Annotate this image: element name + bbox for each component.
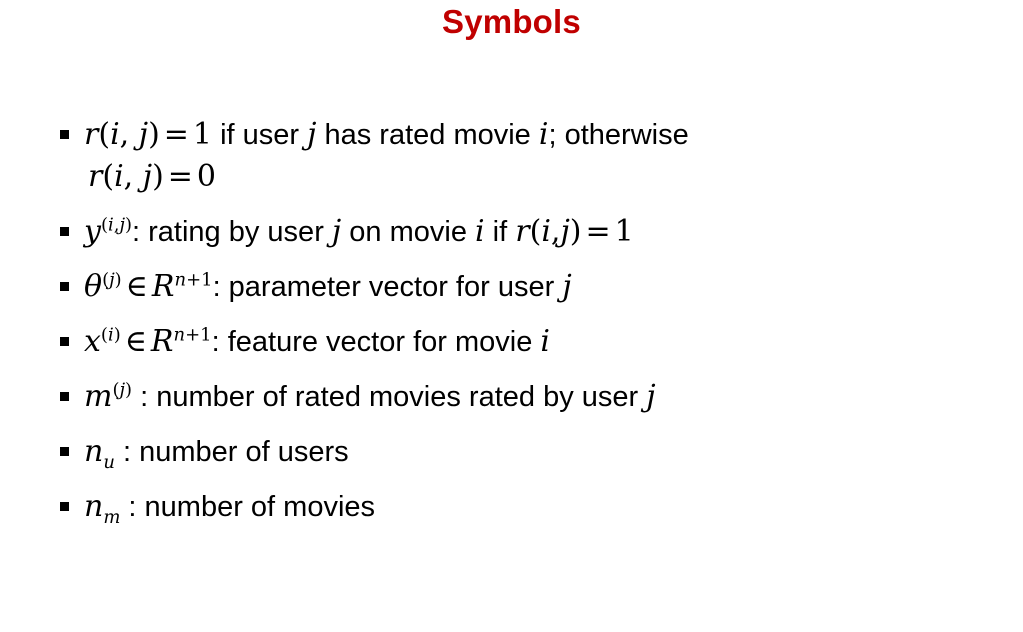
text-if-user: if user	[212, 119, 307, 151]
math-var-j: j	[646, 379, 655, 414]
math-sub-m: m	[103, 507, 120, 528]
list-item: r(i, j)=1 if user j has rated movie i; o…	[58, 112, 1013, 200]
square-bullet-icon	[60, 227, 69, 236]
math-paren-close: )	[115, 269, 122, 290]
square-bullet-icon	[60, 392, 69, 401]
math-plus-one: +1	[186, 269, 213, 290]
math-var-r: r	[88, 159, 102, 194]
math-paren-close: )	[570, 214, 582, 249]
math-var-i: i	[110, 117, 120, 152]
math-paren-open: (	[530, 214, 542, 249]
math-var-n: n	[174, 269, 186, 290]
math-subscript: m	[103, 507, 120, 528]
math-var-n: n	[84, 434, 103, 469]
math-number-zero: 0	[197, 159, 216, 194]
math-paren-open: (	[98, 117, 110, 152]
math-paren-open: (	[101, 214, 108, 235]
math-plus-one: +1	[185, 324, 212, 345]
square-bullet-icon	[60, 282, 69, 291]
math-var-j: j	[332, 214, 341, 249]
text-feature-vector: : feature vector for movie	[212, 326, 541, 358]
math-var-i: i	[114, 159, 124, 194]
math-var-j: j	[562, 269, 571, 304]
slide-canvas: Symbols r(i, j)=1 if user j has rated mo…	[0, 0, 1023, 632]
math-var-r: r	[84, 117, 98, 152]
math-var-r: r	[515, 214, 529, 249]
math-var-theta: θ	[84, 269, 102, 304]
math-comma: ,	[124, 159, 143, 194]
math-subscript: u	[103, 452, 115, 473]
text-number-of-rated-movies: : number of rated movies rated by user	[132, 381, 646, 413]
text-number-of-users: : number of users	[115, 436, 349, 468]
math-element-of: ∈	[121, 324, 151, 359]
math-equals: =	[164, 159, 197, 194]
math-equals: =	[582, 214, 615, 249]
math-var-m: m	[84, 379, 112, 414]
math-number-one: 1	[193, 117, 212, 152]
text-rating-by-user: : rating by user	[132, 216, 332, 248]
math-var-i: i	[475, 214, 485, 249]
math-sub-u: u	[103, 452, 115, 473]
math-element-of: ∈	[122, 269, 152, 304]
math-superscript: (i)	[101, 324, 121, 345]
math-var-x: x	[84, 324, 101, 359]
math-var-n: n	[174, 324, 186, 345]
math-superscript: (i,j)	[101, 214, 132, 235]
math-paren-close: )	[114, 324, 121, 345]
square-bullet-icon	[60, 130, 69, 139]
square-bullet-icon	[60, 502, 69, 511]
list-item: nm : number of movies	[58, 484, 1013, 530]
text-parameter-vector: : parameter vector for user	[213, 271, 563, 303]
math-var-j: j	[560, 214, 569, 249]
math-superscript: n+1	[174, 324, 212, 345]
math-var-j: j	[143, 159, 152, 194]
text-number-of-movies: : number of movies	[120, 491, 375, 523]
math-var-R: R	[152, 269, 175, 304]
math-var-R: R	[151, 324, 174, 359]
math-var-j: j	[139, 117, 148, 152]
math-var-y: y	[84, 214, 101, 249]
list-item: θ(j)∈Rn+1: parameter vector for user j	[58, 264, 1013, 310]
math-equals: =	[160, 117, 193, 152]
list-item-wrapped-line: r(i, j)=0	[84, 154, 1013, 200]
square-bullet-icon	[60, 337, 69, 346]
text-on-movie: on movie	[341, 216, 475, 248]
math-paren-close: )	[125, 214, 132, 235]
list-item: nu : number of users	[58, 429, 1013, 475]
symbol-definition-list: r(i, j)=1 if user j has rated movie i; o…	[58, 112, 1013, 539]
math-superscript: n+1	[174, 269, 212, 290]
math-comma: ,	[120, 117, 139, 152]
math-paren-open: (	[102, 159, 114, 194]
list-item: y(i,j): rating by user j on movie i if r…	[58, 209, 1013, 255]
text-otherwise: ; otherwise	[548, 119, 688, 151]
text-if: if	[485, 216, 516, 248]
square-bullet-icon	[60, 447, 69, 456]
math-var-n: n	[84, 489, 103, 524]
math-paren-close: )	[152, 159, 164, 194]
math-paren-close: )	[125, 379, 132, 400]
math-number-one: 1	[615, 214, 634, 249]
page-title: Symbols	[0, 0, 1023, 44]
math-var-i: i	[540, 324, 550, 359]
math-paren-close: )	[148, 117, 160, 152]
list-item: x(i)∈Rn+1: feature vector for movie i	[58, 319, 1013, 365]
text-has-rated-movie: has rated movie	[316, 119, 538, 151]
math-superscript: (j)	[102, 269, 122, 290]
math-paren-open: (	[101, 324, 108, 345]
math-superscript: (j)	[112, 379, 132, 400]
math-var-i: i	[541, 214, 551, 249]
list-item: m(j) : number of rated movies rated by u…	[58, 374, 1013, 420]
